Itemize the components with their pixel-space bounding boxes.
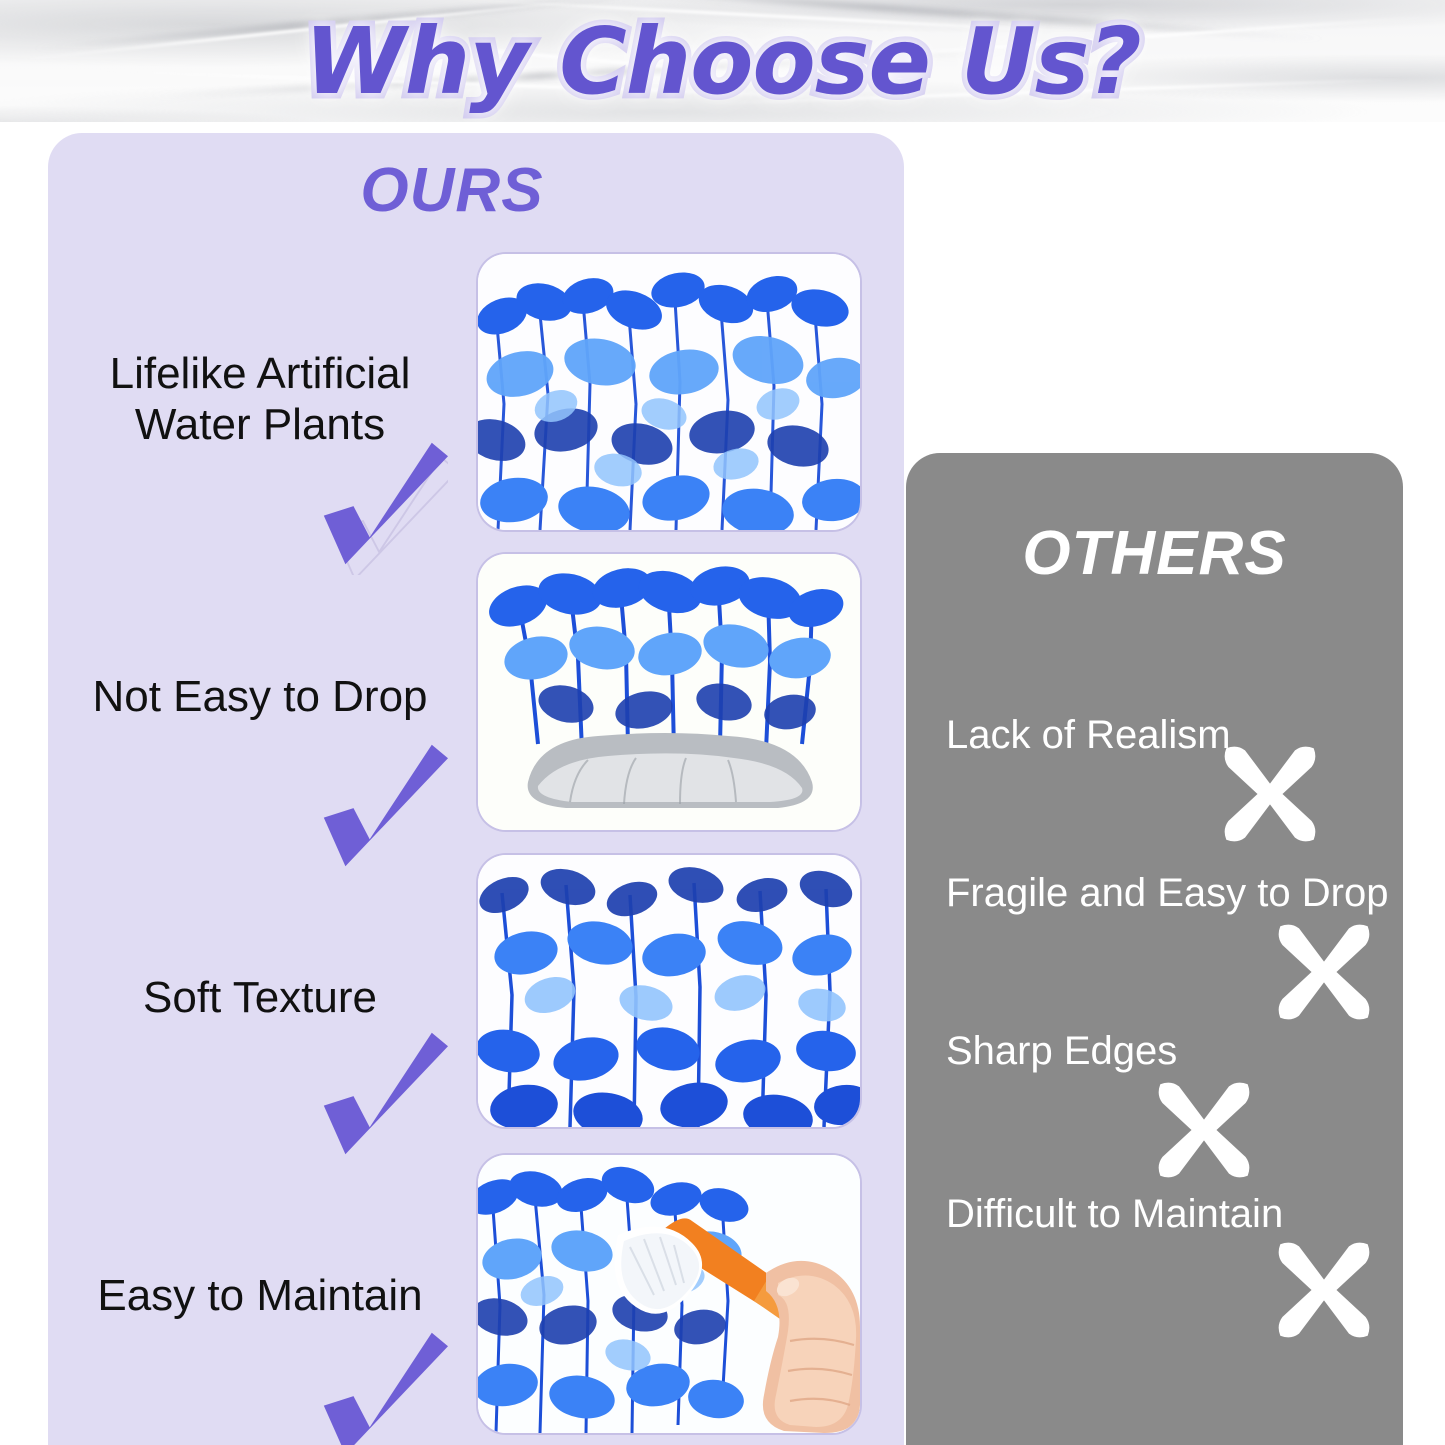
photo-canvas-4 [478, 1155, 860, 1433]
check-icon [313, 1330, 448, 1445]
plants-artwork-1 [478, 254, 860, 530]
check-icon [313, 1030, 448, 1165]
x-icon [1218, 742, 1322, 846]
infographic-root: Why Choose Us? OURS OTHERS Lifelike Arti… [0, 0, 1445, 1445]
others-item-label-2: Fragile and Easy to Drop [946, 871, 1388, 916]
photo-canvas-3 [478, 855, 860, 1127]
photo-canvas-2 [478, 554, 860, 830]
soft-blue-foliage-photo [478, 855, 860, 1127]
others-item-label-4: Difficult to Maintain [946, 1192, 1283, 1237]
x-icon [1272, 1238, 1376, 1342]
dense-blue-plants-photo [478, 254, 860, 530]
plants-artwork-4 [478, 1155, 860, 1433]
check-icon [313, 440, 448, 575]
page-title: Why Choose Us? [0, 8, 1445, 115]
plants-artwork-3 [478, 855, 860, 1127]
check-icon [313, 742, 448, 877]
plant-with-resin-base-photo [478, 554, 860, 830]
ours-feature-label-1: Lifelike Artificial Water Plants [60, 348, 460, 450]
others-item-label-1: Lack of Realism [946, 713, 1231, 758]
x-icon [1152, 1078, 1256, 1182]
others-heading: OTHERS [906, 518, 1403, 589]
hand-brush-cleaning-photo [478, 1155, 860, 1433]
ours-feature-label-3: Soft Texture [60, 972, 460, 1023]
x-icon [1272, 920, 1376, 1024]
plants-artwork-2 [478, 554, 860, 830]
ours-feature-label-2: Not Easy to Drop [60, 671, 460, 722]
ours-heading: OURS [0, 155, 904, 226]
photo-canvas-1 [478, 254, 860, 530]
others-item-label-3: Sharp Edges [946, 1029, 1177, 1074]
ours-feature-label-4: Easy to Maintain [60, 1270, 460, 1321]
